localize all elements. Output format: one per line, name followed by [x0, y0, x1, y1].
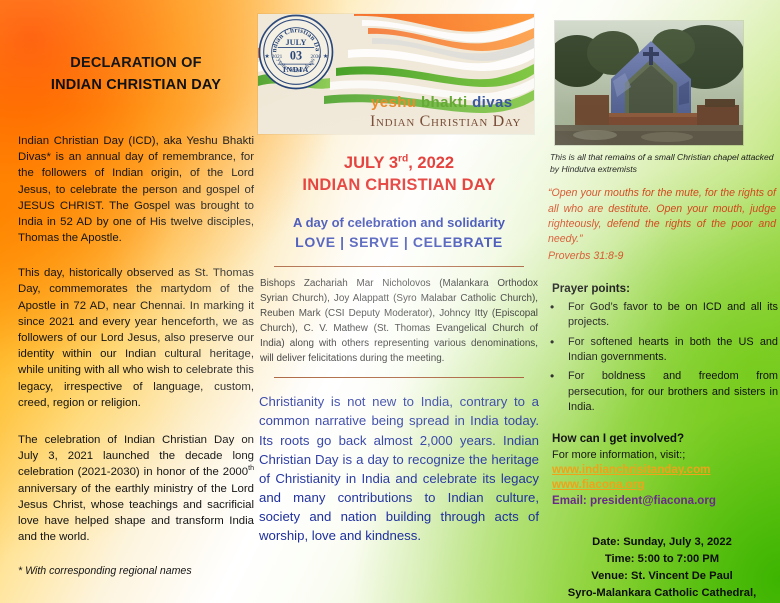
event-time: Time: 5:00 to 7:00 PM [546, 551, 778, 568]
bullet-icon: • [550, 299, 554, 316]
banner-tagline-bhakti: bhakti [421, 94, 468, 111]
banner-subtitle: Indian Christian Day [370, 113, 521, 131]
left-column: DECLARATION OF INDIAN CHRISTIAN DAY Indi… [18, 0, 254, 603]
left-paragraph-3: The celebration of Indian Christian Day … [18, 432, 254, 545]
event-subtitle: A day of celebration and solidarity LOVE… [258, 213, 540, 254]
get-involved-heading: How can I get involved? [552, 432, 778, 445]
poster-background: DECLARATION OF INDIAN CHRISTIAN DAY Indi… [0, 0, 780, 603]
scripture-verse: “Open your mouths for the mute, for the … [548, 186, 776, 264]
banner-tagline: yeshu bhakti divas [371, 94, 512, 111]
prayer-points-heading: Prayer points: [552, 282, 778, 295]
prayer-point-text: For softened hearts in both the US and I… [568, 336, 778, 363]
seal-day: 03 [290, 49, 302, 63]
event-venue-line1: Venue: St. Vincent De Paul [546, 568, 778, 585]
banner-tagline-yeshu: yeshu [371, 94, 416, 111]
banner-tagline-divas: divas [472, 94, 512, 111]
indian-christian-day-banner: July 3 Indian Christian Day yeshu bhakti… [258, 14, 534, 134]
left-footnote: * With corresponding regional names [18, 565, 254, 577]
bishops-paragraph: Bishops Zachariah Mar Nicholovos (Malank… [260, 276, 538, 366]
list-item: •For boldness and freedom from persecuti… [546, 369, 778, 415]
prayer-points-list: •For God’s favor to be on ICD and all it… [546, 300, 778, 415]
seal-country: INDIA [283, 65, 309, 74]
seal-month: JULY [285, 38, 306, 47]
center-column: July 3 Indian Christian Day yeshu bhakti… [258, 0, 540, 603]
link-fiacona[interactable]: www.fiacona.org [552, 478, 644, 491]
scripture-verse-reference: Proverbs 31:8-9 [548, 249, 776, 264]
divider-bottom [274, 377, 524, 378]
divider-top [274, 266, 524, 267]
link-indian-christian-day[interactable]: www.indianchrisitanday.com [552, 463, 710, 476]
left-paragraph-2: This day, historically observed as St. T… [18, 265, 254, 411]
photo-caption: This is all that remains of a small Chri… [550, 151, 776, 175]
contact-email[interactable]: Email: president@fiacona.org [552, 494, 778, 507]
left-paragraph-1: Indian Christian Day (ICD), aka Yeshu Bh… [18, 133, 254, 246]
event-title-date-post: , 2022 [408, 154, 454, 172]
declaration-title-line2: INDIAN CHRISTIAN DAY [18, 74, 254, 96]
event-venue-line2: Syro-Malankara Catholic Cathedral, [546, 585, 778, 602]
event-title-ordinal: rd [398, 154, 408, 165]
list-item: •For softened hearts in both the US and … [546, 335, 778, 366]
chapel-ruins-illustration [555, 21, 743, 145]
bullet-icon: • [550, 368, 554, 385]
seal-star-right: ★ [323, 53, 328, 60]
event-title-line2: INDIAN CHRISTIAN DAY [258, 174, 540, 196]
event-date: Date: Sunday, July 3, 2022 [546, 534, 778, 551]
left-paragraph-3-a: The celebration of Indian Christian Day … [18, 434, 254, 478]
prayer-point-text: For boldness and freedom from persecutio… [568, 370, 778, 413]
event-values-line: LOVE | SERVE | CELEBRATE [258, 232, 540, 253]
destroyed-chapel-photo [555, 21, 743, 145]
event-subtitle-text: A day of celebration and solidarity [293, 215, 505, 230]
event-title-date-pre: JULY 3 [344, 154, 398, 172]
declaration-title: DECLARATION OF INDIAN CHRISTIAN DAY [18, 0, 254, 97]
seal-star-left: ★ [264, 53, 269, 60]
left-paragraph-3-b: anniversary of the earthly ministry of t… [18, 483, 254, 544]
seal-year-right: 2030 [310, 54, 321, 60]
left-paragraph-3-ordinal: th [248, 466, 254, 473]
prayer-point-text: For God’s favor to be on ICD and all its… [568, 301, 778, 328]
icd-seal-icon: Indian Christian Day yeshu bhakti divas … [258, 14, 334, 90]
scripture-verse-text: “Open your mouths for the mute, for the … [548, 187, 776, 245]
seal-year-left: 2021 [272, 54, 283, 60]
bullet-icon: • [550, 334, 554, 351]
event-title: JULY 3rd, 2022 INDIAN CHRISTIAN DAY [258, 152, 540, 197]
event-details: Date: Sunday, July 3, 2022 Time: 5:00 to… [546, 534, 778, 603]
right-column: This is all that remains of a small Chri… [546, 0, 778, 603]
christianity-paragraph: Christianity is not new to India, contra… [259, 392, 539, 545]
more-information-line: For more information, visit:; [552, 449, 778, 461]
list-item: •For God’s favor to be on ICD and all it… [546, 300, 778, 331]
declaration-title-line1: DECLARATION OF [18, 52, 254, 74]
